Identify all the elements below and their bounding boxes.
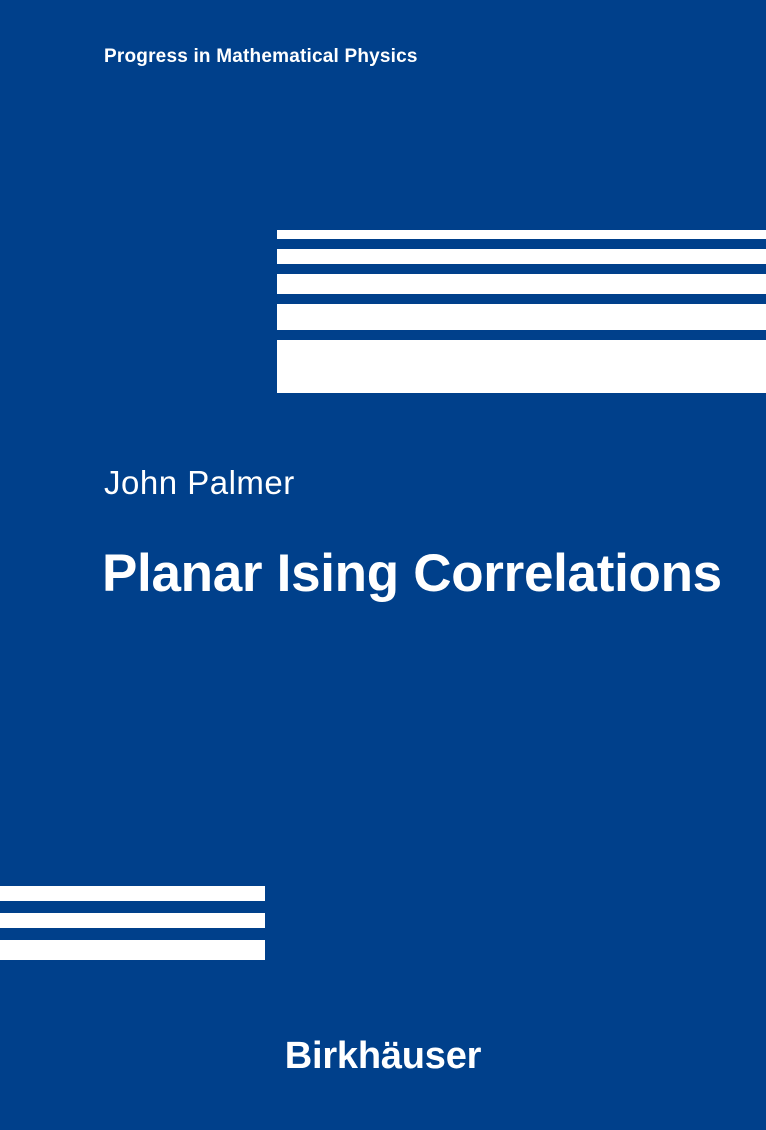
publisher-logo: Birkhäuser <box>0 1035 766 1078</box>
decorative-bar <box>277 304 766 330</box>
author-name: John Palmer <box>104 464 295 502</box>
decorative-bar <box>277 249 766 264</box>
decorative-bar <box>277 230 766 239</box>
decorative-bars-bottom <box>0 886 265 960</box>
decorative-bars-top <box>277 230 766 393</box>
decorative-bar <box>0 886 265 901</box>
decorative-bar <box>277 274 766 294</box>
decorative-bar <box>277 340 766 393</box>
series-title: Progress in Mathematical Physics <box>104 46 418 68</box>
book-cover: Progress in Mathematical Physics John Pa… <box>0 0 766 1130</box>
decorative-bar <box>0 913 265 928</box>
decorative-bar <box>0 940 265 960</box>
page-title: Planar Ising Correlations <box>102 543 722 604</box>
